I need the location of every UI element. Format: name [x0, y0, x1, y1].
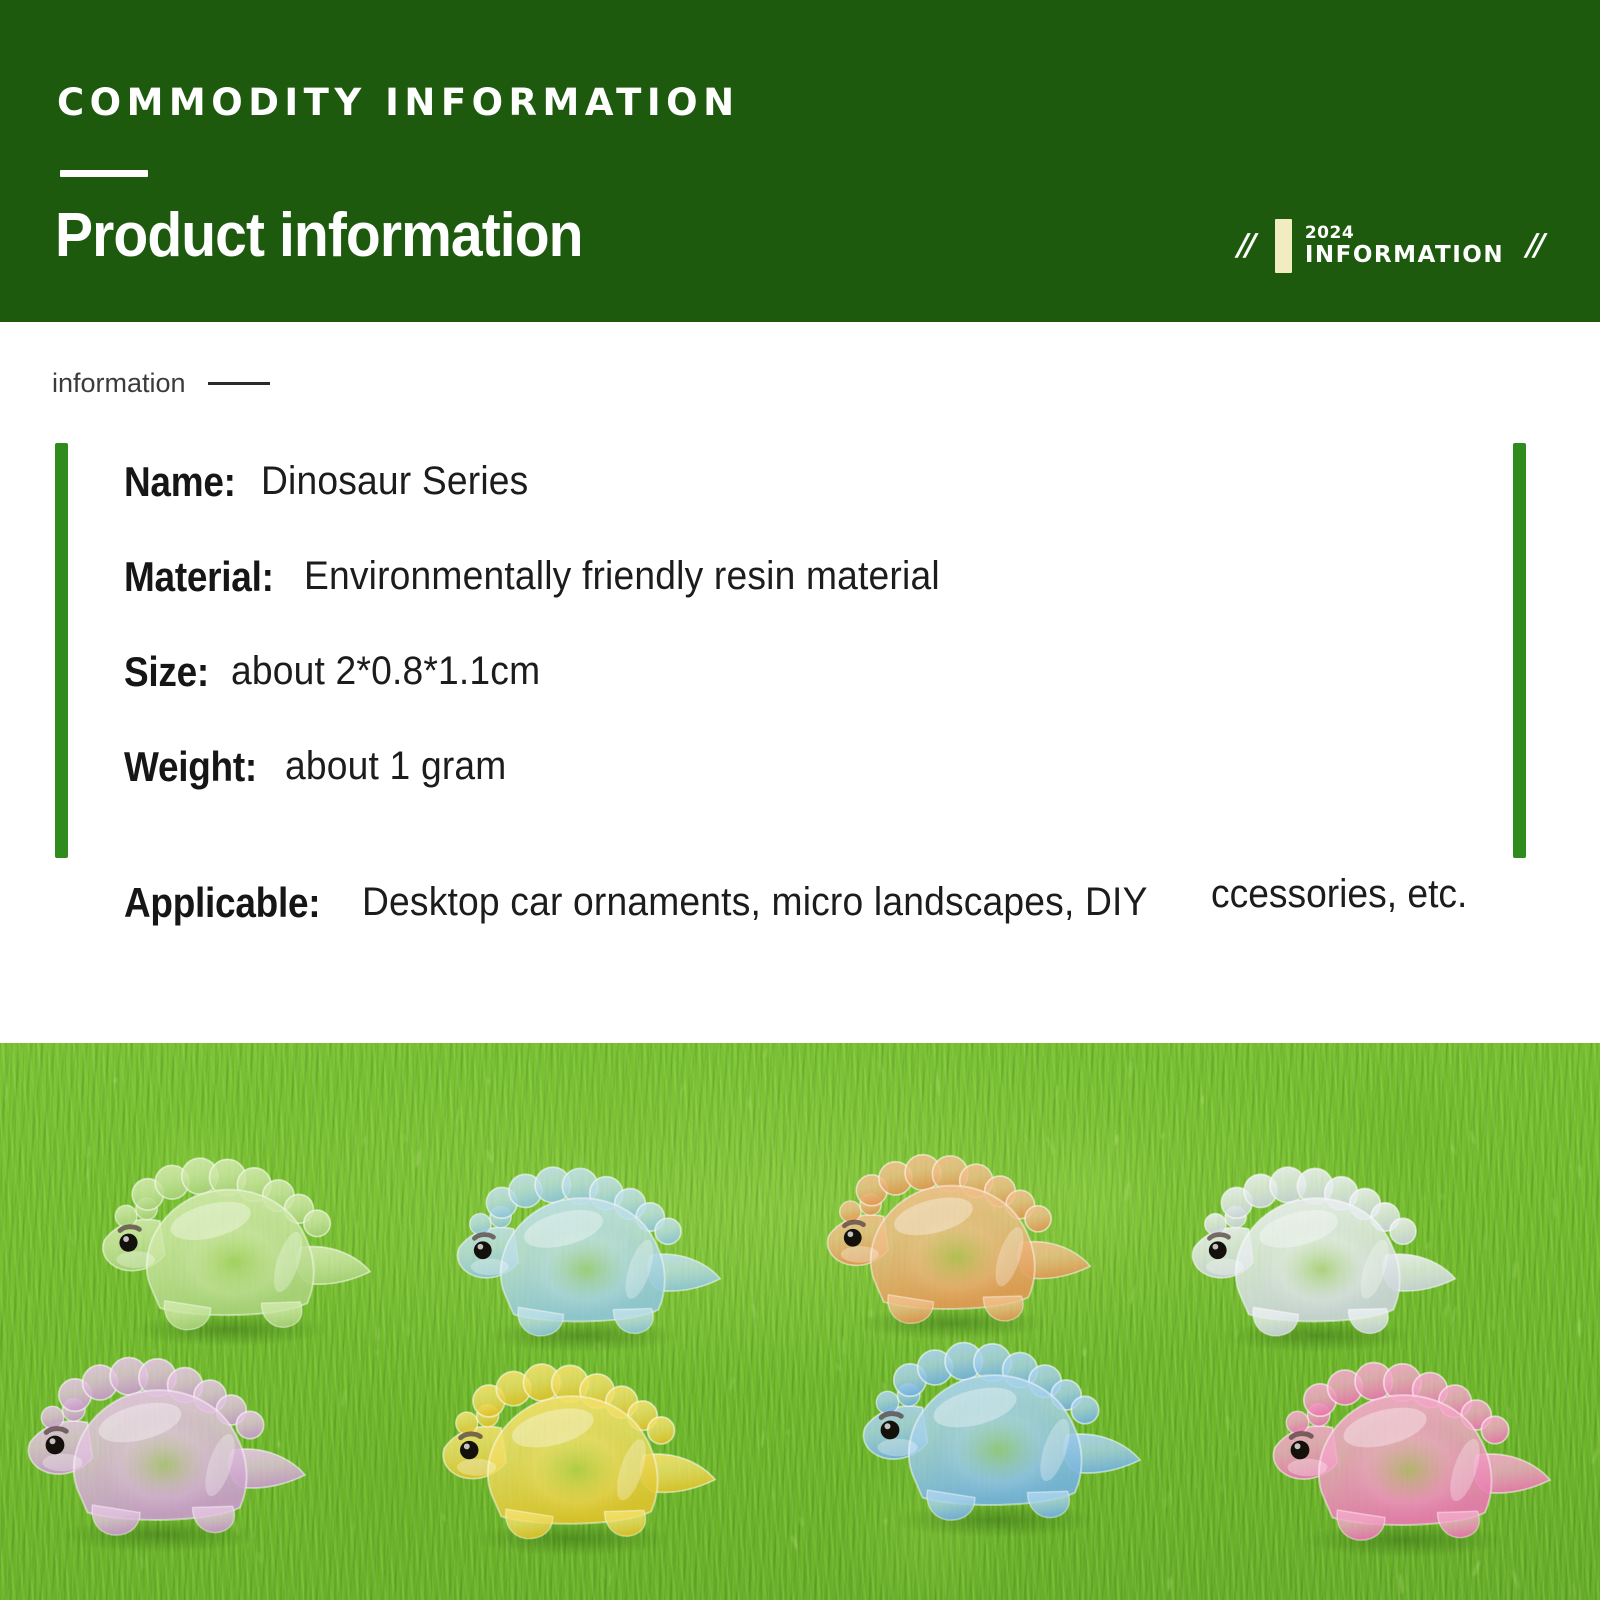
dino-lilac	[10, 1345, 310, 1555]
spec-row-name: Name: Dinosaur Series	[124, 434, 1484, 529]
slash-left-icon: //	[1234, 231, 1256, 261]
spec-value: Desktop car ornaments, micro landscapes,…	[362, 880, 1148, 925]
spec-value: Environmentally friendly resin material	[304, 554, 940, 599]
dino-cyan	[440, 1155, 725, 1355]
section-label: information	[52, 370, 186, 397]
spec-key: Name:	[124, 458, 236, 506]
badge-text: 2024 INFORMATION	[1305, 225, 1504, 267]
spec-row-material: Material: Environmentally friendly resin…	[124, 529, 1484, 624]
spec-list: Name: Dinosaur Series Material: Environm…	[124, 434, 1484, 927]
header-badge: // 2024 INFORMATION //	[1237, 213, 1542, 279]
dino-pink	[1255, 1350, 1555, 1560]
header-kicker: COMMODITY INFORMATION	[57, 84, 740, 121]
spec-key: Size:	[124, 648, 209, 696]
spec-value-line2: ccessories, etc.	[1211, 872, 1467, 917]
spec-value: about 1 gram	[285, 744, 506, 789]
header-kicker-rule	[60, 170, 148, 177]
spec-key: Weight:	[124, 743, 257, 791]
badge-word: INFORMATION	[1305, 244, 1504, 267]
product-information-page: COMMODITY INFORMATION Product informatio…	[0, 0, 1600, 1600]
badge-bar-icon	[1275, 219, 1292, 273]
spec-key: Applicable:	[124, 879, 320, 927]
product-photo	[0, 1043, 1600, 1600]
page-header: COMMODITY INFORMATION Product informatio…	[0, 0, 1600, 322]
section-label-dash-icon	[208, 382, 270, 385]
spec-accent-bar-left	[55, 443, 68, 858]
section-label-row: information	[52, 370, 270, 397]
badge-core: 2024 INFORMATION	[1275, 219, 1504, 273]
spec-row-weight: Weight: about 1 gram	[124, 719, 1484, 814]
information-section: information Name: Dinosaur Series Materi…	[0, 322, 1600, 1043]
spec-row-size: Size: about 2*0.8*1.1cm	[124, 624, 1484, 719]
spec-accent-bar-right	[1513, 443, 1526, 858]
slash-right-icon: //	[1523, 231, 1545, 261]
dino-orange	[810, 1140, 1095, 1345]
spec-row-applicable: Applicable: Desktop car ornaments, micro…	[124, 814, 1484, 927]
dino-blue	[845, 1325, 1145, 1545]
dino-white	[1175, 1155, 1460, 1355]
page-title: Product information	[55, 203, 583, 268]
badge-year: 2024	[1305, 225, 1504, 242]
spec-value: Dinosaur Series	[261, 459, 528, 504]
dino-yellow	[425, 1350, 720, 1560]
spec-key: Material:	[124, 553, 274, 601]
spec-value: about 2*0.8*1.1cm	[231, 649, 540, 694]
dino-green	[85, 1145, 375, 1350]
